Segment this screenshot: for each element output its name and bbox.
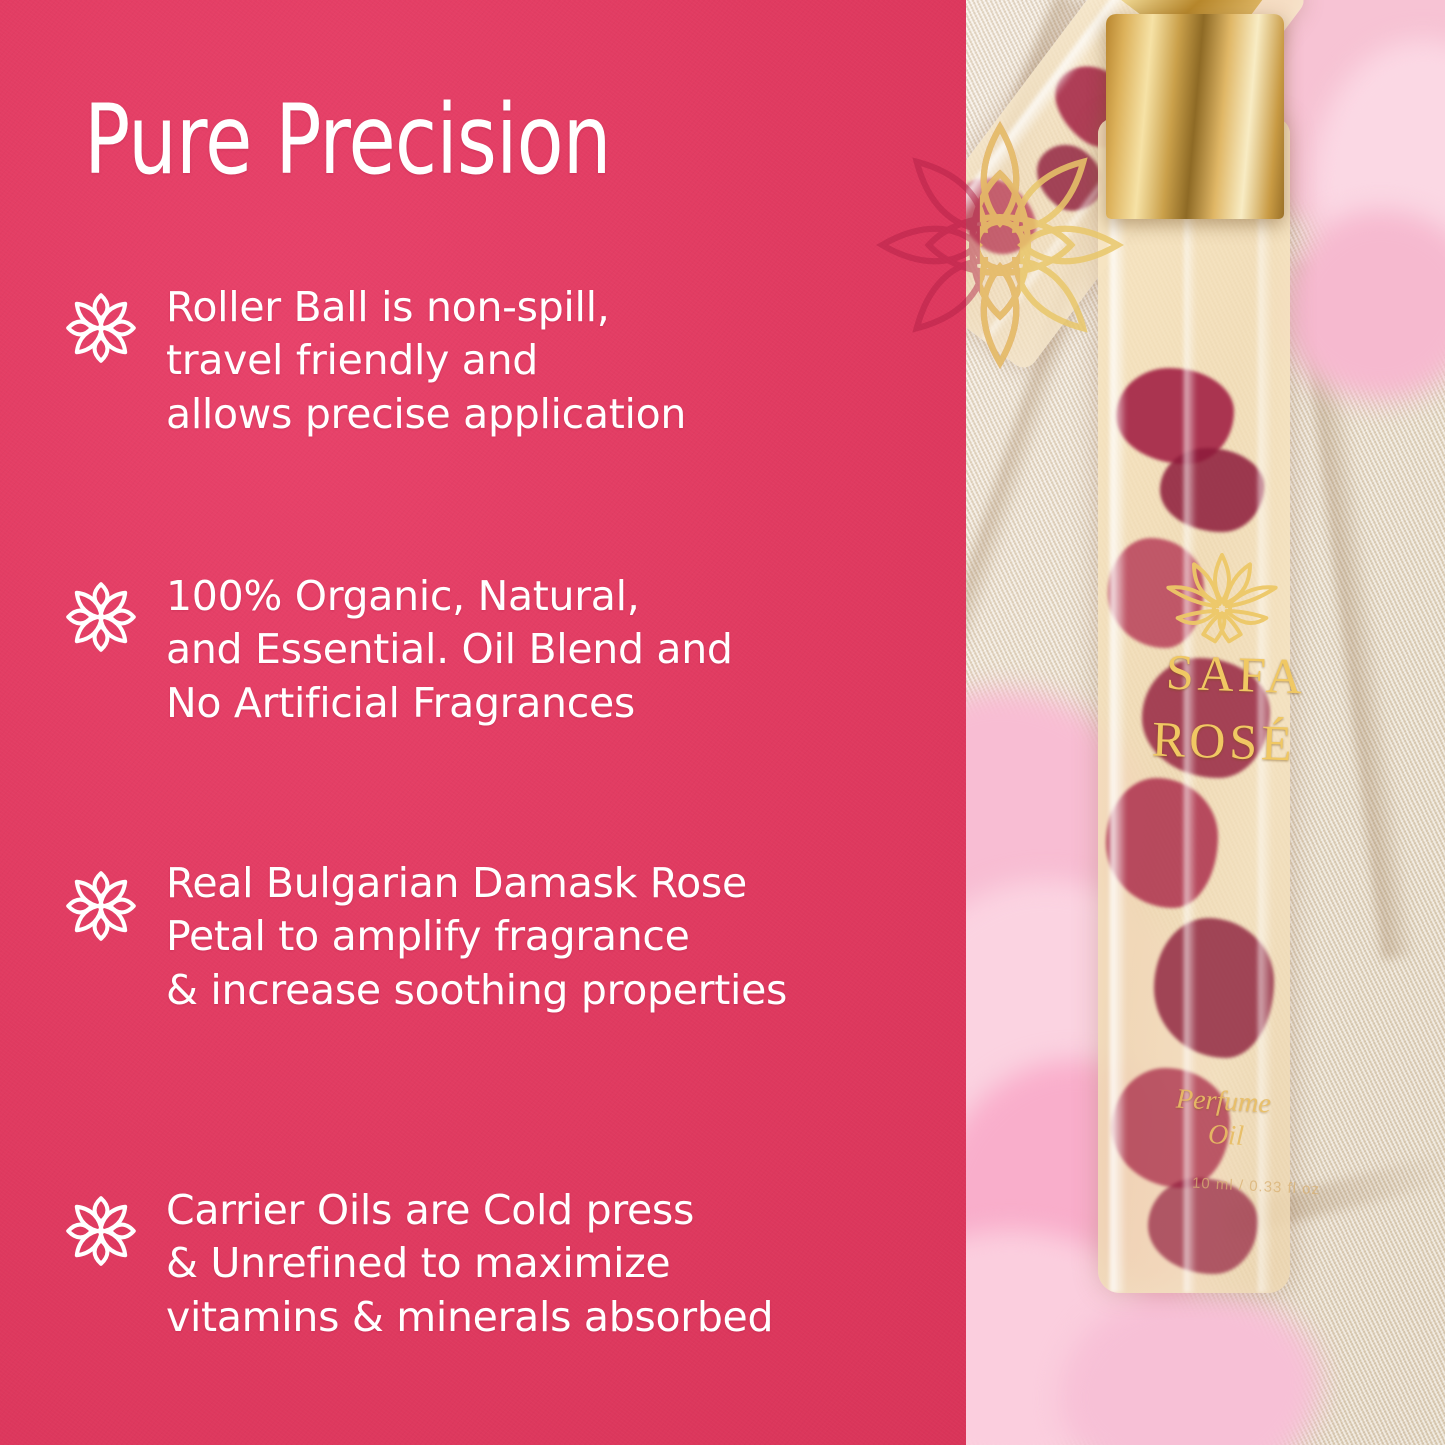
feature-item: Carrier Oils are Cold press & Unrefined … <box>62 1184 773 1344</box>
feature-line: vitamins & minerals absorbed <box>166 1291 773 1344</box>
bottle-brand-line2: ROSÉ <box>1151 710 1297 773</box>
bottle-product-line2: Oil <box>1207 1119 1244 1153</box>
product-feature-banner: SAFA ROSÉ Perfume Oil 10 ml / 0.33 fl oz <box>0 0 1445 1445</box>
ornamental-quatrefoil-icon <box>62 867 140 945</box>
bottle-brand-line1: SAFA <box>1165 643 1307 706</box>
feature-text: Carrier Oils are Cold press & Unrefined … <box>166 1184 773 1344</box>
feature-line: Roller Ball is non-spill, <box>166 281 686 334</box>
ornamental-quatrefoil-icon <box>62 1192 140 1270</box>
feature-line: No Artificial Fragrances <box>166 677 733 730</box>
ornamental-quatrefoil-icon <box>62 578 140 656</box>
feature-item: Real Bulgarian Damask Rose Petal to ampl… <box>62 857 787 1017</box>
feature-line: 100% Organic, Natural, <box>166 570 733 623</box>
feature-line: Carrier Oils are Cold press <box>166 1184 773 1237</box>
ornamental-quatrefoil-icon <box>62 289 140 367</box>
feature-line: Real Bulgarian Damask Rose <box>166 857 787 910</box>
bottle-product-line1: Perfume <box>1175 1084 1271 1121</box>
feature-line: Petal to amplify fragrance <box>166 910 787 963</box>
feature-text: Real Bulgarian Damask Rose Petal to ampl… <box>166 857 787 1017</box>
feature-text: 100% Organic, Natural, and Essential. Oi… <box>166 570 733 730</box>
feature-line: & increase soothing properties <box>166 964 787 1017</box>
feature-line: travel friendly and <box>166 334 686 387</box>
page-title: Pure Precision <box>84 84 611 196</box>
feature-item: Roller Ball is non-spill, travel friendl… <box>62 281 686 441</box>
feature-line: and Essential. Oil Blend and <box>166 623 733 676</box>
product-photo: SAFA ROSÉ Perfume Oil 10 ml / 0.33 fl oz <box>920 0 1445 1445</box>
feature-line: allows precise application <box>166 388 686 441</box>
main-bottle-cap <box>1106 14 1284 219</box>
feature-text: Roller Ball is non-spill, travel friendl… <box>166 281 686 441</box>
feature-item: 100% Organic, Natural, and Essential. Oi… <box>62 570 733 730</box>
feature-line: & Unrefined to maximize <box>166 1237 773 1290</box>
